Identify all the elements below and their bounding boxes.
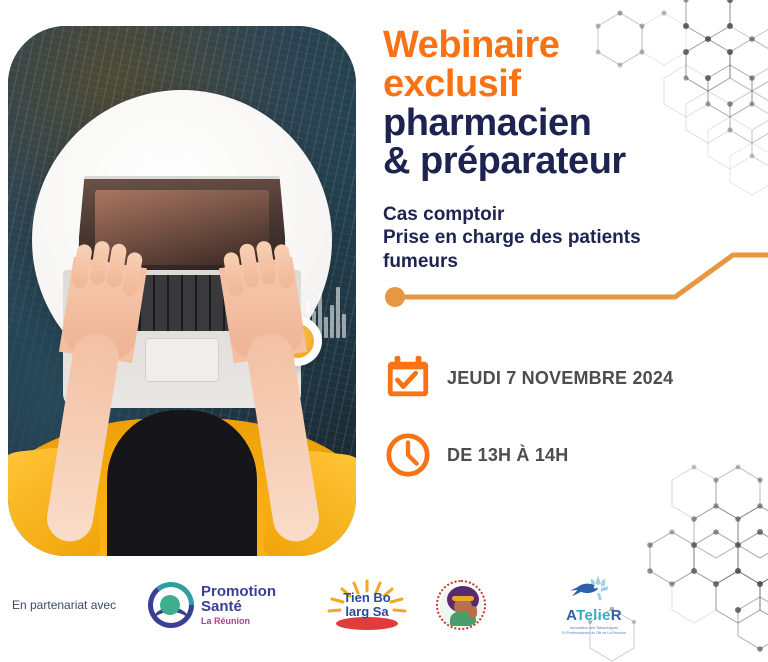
person-torso (107, 410, 257, 556)
laptop-trackpad (145, 338, 219, 382)
logo-atelier: ATelieR Association des Tabacologues Et … (548, 574, 640, 637)
logo-promotion-sante: Promotion Santé La Réunion (148, 582, 276, 628)
atelier-a: A (566, 607, 576, 624)
atelier-sub-2: Et Professionnels de l'Île de La Réunion (548, 631, 640, 636)
orange-connector-line (383, 240, 768, 310)
promotion-sante-line-2: Santé (201, 599, 276, 614)
promotion-sante-line-1: Promotion (201, 584, 276, 599)
left-hand (59, 257, 147, 363)
subtitle-line-1: Cas comptoir (383, 203, 641, 226)
logo-illustration-badge (436, 580, 486, 630)
title-line-1: Webinaire (383, 26, 626, 65)
tien-bo-line-1: Tien Bo (324, 591, 410, 605)
atelier-telie: Telie (576, 607, 611, 624)
title-line-4: & préparateur (383, 142, 626, 181)
partnership-label: En partenariat avec (12, 598, 124, 612)
time-row: DE 13H À 14H (385, 432, 568, 478)
webinar-hero-photo (8, 26, 356, 556)
promotion-sante-mark (148, 582, 194, 628)
poster-content: Webinaire exclusif pharmacien & préparat… (383, 0, 768, 644)
tien-bo-line-2: larg Sa (324, 605, 410, 619)
poster-title: Webinaire exclusif pharmacien & préparat… (383, 26, 626, 181)
atelier-bird-icon (557, 574, 632, 602)
date-text: JEUDI 7 NOVEMBRE 2024 (447, 368, 673, 389)
title-line-3: pharmacien (383, 104, 626, 143)
partner-logos: Promotion Santé La Réunion (124, 574, 640, 637)
date-row: JEUDI 7 NOVEMBRE 2024 (385, 355, 673, 401)
right-hand (219, 257, 307, 363)
connector-dot (385, 287, 405, 307)
atelier-r: R (611, 607, 622, 624)
partners-footer: En partenariat avec Promotion Santé La R… (0, 566, 768, 644)
logo-tien-bo-larg-sa: Tien Bo larg Sa (324, 579, 410, 631)
title-line-2: exclusif (383, 65, 626, 104)
clock-icon (385, 432, 431, 478)
tien-bo-smile (336, 617, 398, 630)
atelier-wordmark: ATelieR (548, 607, 640, 624)
calendar-check-icon (385, 355, 431, 401)
promotion-sante-line-3: La Réunion (201, 617, 276, 626)
time-text: DE 13H À 14H (447, 445, 568, 466)
